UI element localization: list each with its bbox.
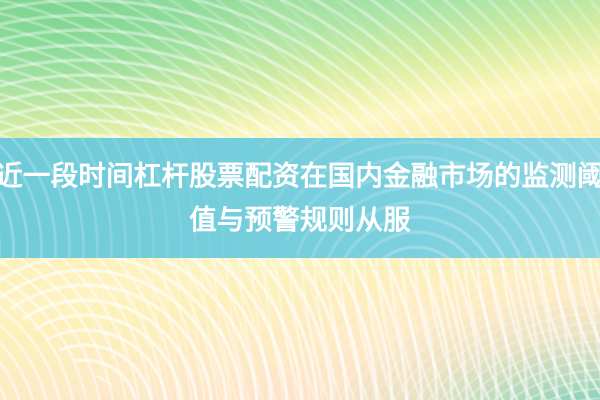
title-band: 近一段时间杠杆股票配资在国内金融市场的监测阈 值与预警规则从服 [0,138,600,258]
title-line-1: 近一段时间杠杆股票配资在国内金融市场的监测阈 [0,154,600,198]
banner-image: 近一段时间杠杆股票配资在国内金融市场的监测阈 值与预警规则从服 [0,0,600,400]
page-title: 近一段时间杠杆股票配资在国内金融市场的监测阈 值与预警规则从服 [0,138,600,258]
title-line-2: 值与预警规则从服 [189,198,411,242]
